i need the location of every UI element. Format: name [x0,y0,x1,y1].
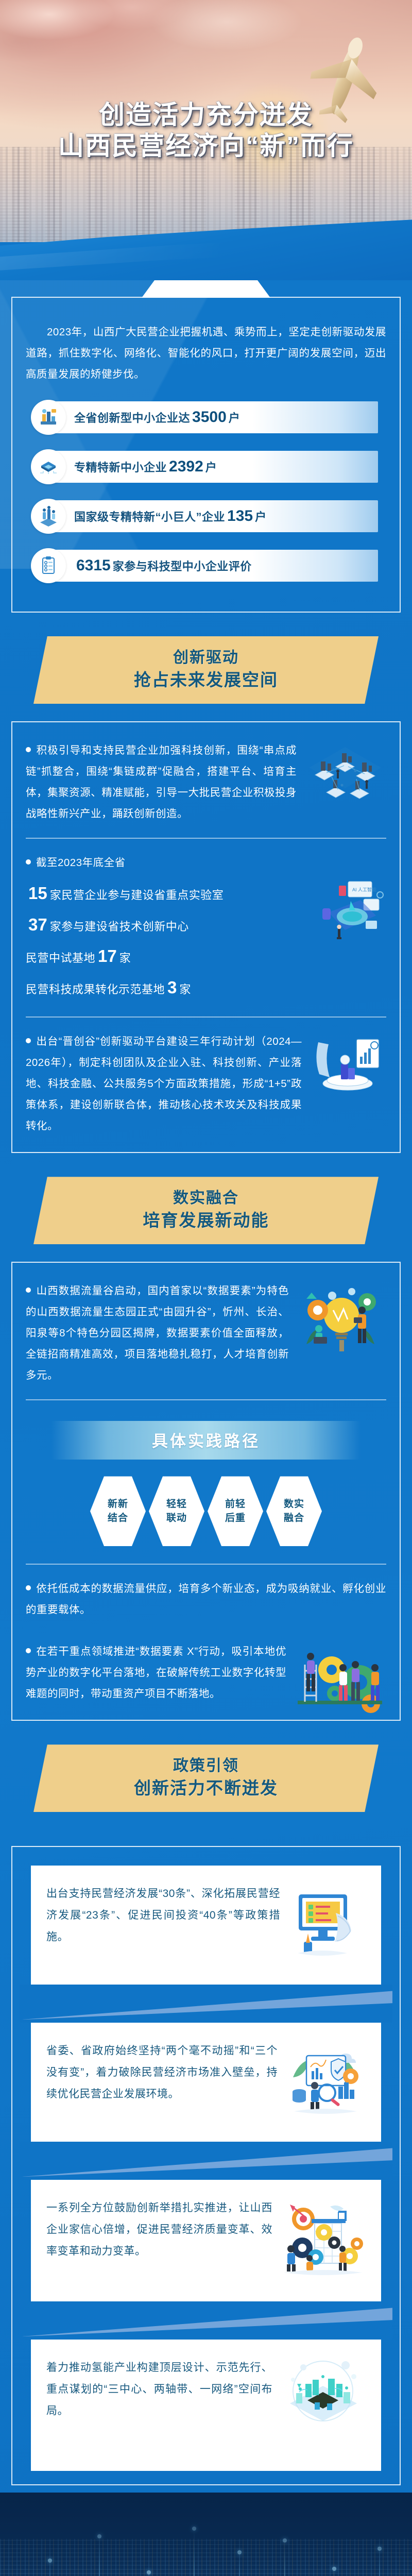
stat-number: 135 [225,507,255,524]
innovation-bullet-2-lead: 截至2023年底全省 [26,852,386,873]
policy-cards: 出台支持民营经济发展“30条”、深化拓展民营经济发展“23条”、促进民间投资“4… [20,1860,392,2471]
stat-row[interactable]: 专精特新中小企业2392户 [30,448,382,486]
policy-card-gap [20,2142,392,2180]
title-line-1: 创造活力充分迸发 [0,100,412,130]
policy-frame-top [11,1829,401,1847]
night-city-illustration [0,2493,412,2576]
section-digital-frame: 山西数据流量谷启动，国内首家以“数据要素”为特色的山西数据流量生态园正式“由园升… [11,1262,401,1721]
target-crane-gears-illustration [281,2199,366,2282]
stat-label-after: 户 [255,511,267,523]
digital-bullet-1: 山西数据流量谷启动，国内首家以“数据要素”为特色的山西数据流量生态园正式“由园升… [26,1280,386,1386]
policy-card[interactable]: 出台支持民营经济发展“30条”、深化拓展民营经济发展“23条”、促进民间投资“4… [31,1866,381,1985]
divider [26,1399,386,1400]
stat-text: 国家级专精特新“小巨人”企业135户 [74,507,267,525]
policy-card-gap [20,2301,392,2340]
number-line: 民营科技成果转化示范基地3家 [26,972,386,1003]
stat-label-before: 国家级专精特新“小巨人”企业 [74,511,225,523]
policy-card[interactable]: 省委、省政府始终坚持“两个毫不动摇”和“三个没有变”，着力破除民营经济市场准入壁… [31,2023,381,2142]
bullet-dot-icon [26,1585,31,1590]
stat-label-after: 户 [205,461,217,474]
stats-list: 全省创新型中小企业达3500户 [30,398,382,585]
banner-line-1: 创新驱动 [33,648,379,669]
bullet-dot-icon [26,747,31,752]
page-title: 创造活力充分迸发 山西民营经济向“新”而行 [0,100,412,161]
innovation-bullet-1: 积极引导和支持民营企业加强科技创新，围绕“串点成链”抓整合，围绕“集链成群”促融… [26,740,386,824]
stat-label-before: 全省创新型中小企业达 [74,412,190,425]
section-banner-innovation: 创新驱动 抢占未来发展空间 [0,636,412,704]
policy-card-gap [20,1985,392,2023]
banner-line-1: 数实融合 [33,1188,379,1209]
hero-banner: 创造活力充分迸发 山西民营经济向“新”而行 [0,0,412,242]
section-innovation-frame: 积极引导和支持民营企业加强科技创新，围绕“串点成链”抓整合，围绕“集链成群”促融… [11,721,401,1153]
people-growth-icon [31,499,66,534]
policy-card[interactable]: 着力推动氢能产业构建顶层设计、示范先行、重点谋划的“三中心、两轴带、一网络”空间… [31,2340,381,2471]
bullet-dot-icon [26,1038,31,1043]
stat-text: 6315家参与科技型中小企业评价 [74,557,252,574]
stat-number: 6315 [74,557,113,574]
stat-text: 全省创新型中小企业达3500户 [74,409,240,426]
stat-number: 3500 [190,409,229,426]
factory-chart-icon [31,400,66,435]
infographic-poster: 创造活力充分迸发 山西民营经济向“新”而行 2023年，山西广大民营企业把握机遇… [0,0,412,2576]
banner-line-2: 创新活力不断迸发 [33,1777,379,1800]
digital-bullet-2: 依托低成本的数据流量供应，培育多个新业态，成为吸纳就业、孵化创业的重要载体。 [26,1578,386,1620]
policy-card[interactable]: 一系列全方位鼓励创新举措扎实推进，让山西企业家信心倍增，促进民营经济质量变革、效… [31,2180,381,2301]
divider [26,1016,386,1018]
document-monitor-illustration [288,1885,366,1965]
digital-bullet-3: 在若干重点领域推进“数据要素 X”行动，吸引本地优势产业的数字化平台落地，在破解… [26,1641,386,1704]
clipboard-checklist-icon [31,548,66,583]
stat-label-before: 专精特新中小企业 [74,461,167,474]
svg-text:AI 人工智能: AI 人工智能 [352,887,376,892]
stat-label-after: 家参与科技型中小企业评价 [113,560,252,573]
section-banner-policy: 政策引领 创新活力不断迸发 [0,1744,412,1812]
intro-paragraph: 2023年，山西广大民营企业把握机遇、乘势而上，坚定走创新驱动发展道路，抓住数字… [26,321,386,385]
light-beams [0,2493,412,2576]
stat-row[interactable]: 6315家参与科技型中小企业评价 [30,547,382,585]
bullet-dot-icon [26,1648,31,1653]
banner-line-2: 抢占未来发展空间 [33,669,379,692]
chip-circuit-icon [31,449,66,484]
practice-path-subtitle: 具体实践路径 [51,1421,360,1460]
stat-row[interactable]: 国家级专精特新“小巨人”企业135户 [30,497,382,535]
title-line-2: 山西民营经济向“新”而行 [0,130,412,161]
banner-line-1: 政策引领 [33,1756,379,1777]
stat-row[interactable]: 全省创新型中小企业达3500户 [30,398,382,436]
hexagon-item[interactable]: 数实 融合 [266,1474,322,1548]
intro-frame: 2023年，山西广大民营企业把握机遇、乘势而上，坚定走创新驱动发展道路，抓住数字… [11,298,401,613]
stat-label-after: 户 [229,412,241,425]
shield-analytics-illustration [286,2042,366,2122]
divider [26,1564,386,1565]
innovation-bullet-3: 出台“晋创谷”创新驱动平台建设三年行动计划（2024—2026年），制定科创团队… [26,1031,386,1137]
policy-frame: 出台支持民营经济发展“30条”、深化拓展民营经济发展“23条”、促进民间投资“4… [11,1847,401,2485]
hexagon-item[interactable]: 前轻 后重 [208,1474,263,1548]
intro-frame-tab [142,280,270,298]
intro-frame-top [11,280,401,298]
practice-path-hexagons: 新新 结合 轻轻 联动 前轻 后重 数实 融合 [26,1474,386,1548]
banner-line-2: 培育发展新动能 [33,1209,379,1232]
smart-city-chip-illustration [281,2359,366,2429]
stat-number: 2392 [167,458,205,475]
section-banner-digital: 数实融合 培育发展新动能 [0,1177,412,1244]
body-panel: 2023年，山西广大民营企业把握机遇、乘势而上，坚定走创新驱动发展道路，抓住数字… [0,280,412,2493]
ai-chip-illustration: AI 人工智能 [299,876,386,956]
bullet-dot-icon [26,859,31,865]
hexagon-item[interactable]: 轻轻 联动 [149,1474,204,1548]
stat-text: 专精特新中小企业2392户 [74,458,217,476]
divider [26,838,386,839]
bullet-dot-icon [26,1287,31,1293]
hexagon-item[interactable]: 新新 结合 [90,1474,146,1548]
